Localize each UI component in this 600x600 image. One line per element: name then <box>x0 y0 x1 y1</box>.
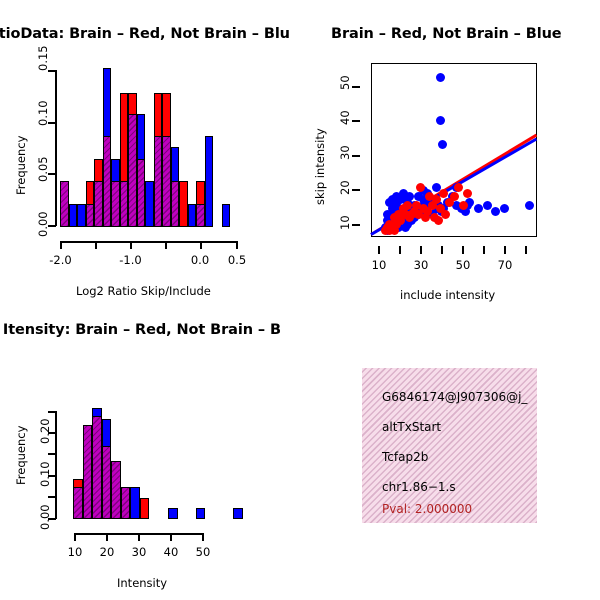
histogram-intensity-yaxis <box>55 411 57 519</box>
scatter-point-red <box>421 213 430 222</box>
scatter-point-blue <box>436 73 445 82</box>
scatter-title: Brain – Red, Not Brain – Blue <box>331 26 562 42</box>
scatter-point-blue <box>491 207 500 216</box>
xtick-mark-3 <box>165 241 167 249</box>
bar-purple <box>196 204 205 227</box>
scatter-point-red <box>454 183 463 192</box>
int-xtick-label-10: 10 <box>59 545 91 559</box>
xtick-mark-0 <box>60 241 62 249</box>
scatter-point-red <box>459 201 468 210</box>
scatter-ylabel: skip intensity <box>313 128 327 205</box>
bar-purple <box>94 181 103 227</box>
scatter-xtick-label-50: 50 <box>447 258 479 272</box>
int-xtick-label-40: 40 <box>155 545 187 559</box>
info-line-event-type: altTxStart <box>382 420 441 434</box>
int-xtick-label-20: 20 <box>91 545 123 559</box>
bar-blue <box>77 204 86 227</box>
scatter-ytick-mark-50 <box>352 86 360 88</box>
ytick-0-15: 0.15 <box>36 45 50 71</box>
int-xtick-mark-40 <box>170 533 172 541</box>
histogram-ratio-title: RatioData: Brain – Red, Not Brain – Blu <box>0 26 290 42</box>
info-line-id: G6846174@J907306@j_ <box>382 390 527 404</box>
bar-purple <box>92 416 102 519</box>
int-ytick-mark-5 <box>48 411 56 413</box>
int-ytick-mark-1 <box>48 496 56 498</box>
bar-blue <box>222 204 230 227</box>
scatter-xtick-mark-50 <box>462 246 464 254</box>
scatter-ytick-mark-30 <box>352 155 360 157</box>
info-line-locus: chr1.86−1.s <box>382 480 456 494</box>
scatter-point-blue <box>436 116 445 125</box>
scatter-point-red <box>412 201 421 210</box>
scatter-xtick-label-10: 10 <box>363 258 395 272</box>
int-xtick-mark-50 <box>202 533 204 541</box>
bar-purple <box>102 446 111 519</box>
int-xtick-label-50: 50 <box>187 545 219 559</box>
scatter-ytick-mark-10 <box>352 224 360 226</box>
xtick-label-0-5: 0.5 <box>221 253 253 267</box>
scatter-ytick-mark-20 <box>352 189 360 191</box>
bar-purple <box>154 136 162 227</box>
scatter-ytick-mark-40 <box>352 120 360 122</box>
bar-purple <box>162 136 171 227</box>
bar-purple <box>120 181 128 227</box>
histogram-intensity-title: ne Itensity: Brain – Red, Not Brain – B <box>0 322 281 338</box>
scatter-point-blue <box>414 192 423 201</box>
scatter-point-blue <box>438 140 447 149</box>
scatter-ytick-50: 50 <box>338 75 352 90</box>
scatter-point-blue <box>525 201 534 210</box>
xtick-label--1-0: -1.0 <box>113 253 148 267</box>
xtick-mark-4 <box>200 241 202 249</box>
histogram-intensity-xlabel: Intensity <box>117 576 167 590</box>
gene-info-box: G6846174@J907306@j_ altTxStart Tcfap2b c… <box>362 368 537 523</box>
xtick-mark-2 <box>130 241 132 249</box>
scatter-point-red <box>403 201 412 210</box>
scatter-point-blue <box>500 204 509 213</box>
ytick-mark-1 <box>48 173 56 175</box>
xtick-mark-5 <box>236 241 238 249</box>
bar-red <box>140 498 149 519</box>
int-ytick-mark-4 <box>48 432 56 434</box>
histogram-ratio-ylabel: Frequency <box>14 136 28 195</box>
ytick-mark-3 <box>48 70 56 72</box>
bar-purple <box>60 181 69 227</box>
bar-purple <box>137 159 145 227</box>
bar-purple <box>121 487 130 519</box>
ytick-mark-0 <box>48 225 56 227</box>
bar-purple <box>111 181 120 227</box>
scatter-xtick-mark-30 <box>420 246 422 254</box>
scatter-point-red <box>425 192 434 201</box>
bar-purple <box>83 425 92 519</box>
scatter-point-blue <box>474 204 483 213</box>
ytick-mark-2 <box>48 122 56 124</box>
scatter-xtick-label-30: 30 <box>405 258 437 272</box>
xtick-mark-1 <box>95 241 97 249</box>
scatter-xtick-mark-60 <box>483 246 485 254</box>
scatter-point-red <box>390 226 399 235</box>
bar-purple <box>111 461 121 519</box>
info-line-pval: Pval: 2.000000 <box>382 502 472 516</box>
int-ytick-mark-2 <box>48 475 56 477</box>
scatter-point-red <box>439 189 448 198</box>
bar-blue <box>196 508 205 519</box>
histogram-intensity-ylabel: Frequency <box>14 426 28 485</box>
histogram-ratio-xlabel: Log2 Ratio Skip/Include <box>76 284 211 298</box>
xtick-label--2-0: -2.0 <box>43 253 78 267</box>
scatter-point-red <box>463 189 472 198</box>
scatter-xtick-label-70: 70 <box>489 258 521 272</box>
int-xtick-label-30: 30 <box>123 545 155 559</box>
bar-blue <box>205 136 213 227</box>
scatter-plot-frame <box>371 63 537 237</box>
bar-blue <box>168 508 178 519</box>
scatter-xtick-mark-40 <box>441 246 443 254</box>
bar-blue <box>145 181 154 227</box>
bar-blue <box>69 204 77 227</box>
scatter-point-red <box>450 192 459 201</box>
histogram-ratio-yaxis <box>55 70 57 226</box>
bar-purple <box>171 181 179 227</box>
info-line-gene-symbol: Tcfap2b <box>382 450 428 464</box>
scatter-ytick-20: 20 <box>338 180 352 195</box>
scatter-ytick-40: 40 <box>338 110 352 125</box>
bar-blue <box>233 508 243 519</box>
bar-purple <box>103 136 111 227</box>
scatter-point-red <box>434 216 443 225</box>
scatter-xlabel: include intensity <box>400 288 495 302</box>
scatter-xtick-mark-80 <box>525 246 527 254</box>
bar-red <box>179 181 188 227</box>
scatter-xtick-mark-20 <box>399 246 401 254</box>
scatter-point-red <box>416 183 425 192</box>
scatter-ytick-30: 30 <box>338 145 352 160</box>
xtick-label-0-0: 0.0 <box>184 253 216 267</box>
ytick-0-05: 0.05 <box>36 156 50 182</box>
histogram-ratio-xaxis <box>60 241 238 243</box>
bar-purple <box>73 487 83 519</box>
int-xtick-mark-20 <box>106 533 108 541</box>
scatter-ytick-10: 10 <box>338 215 352 230</box>
scatter-xtick-mark-70 <box>504 246 506 254</box>
int-xtick-mark-30 <box>138 533 140 541</box>
bar-blue <box>188 204 196 227</box>
bar-purple <box>86 204 94 227</box>
scatter-xtick-mark-10 <box>378 246 380 254</box>
scatter-point-red <box>407 210 416 219</box>
bar-purple <box>128 114 137 227</box>
int-ytick-mark-0 <box>48 518 56 520</box>
int-xtick-mark-10 <box>74 533 76 541</box>
int-ytick-mark-3 <box>48 453 56 455</box>
bar-blue <box>130 487 140 519</box>
